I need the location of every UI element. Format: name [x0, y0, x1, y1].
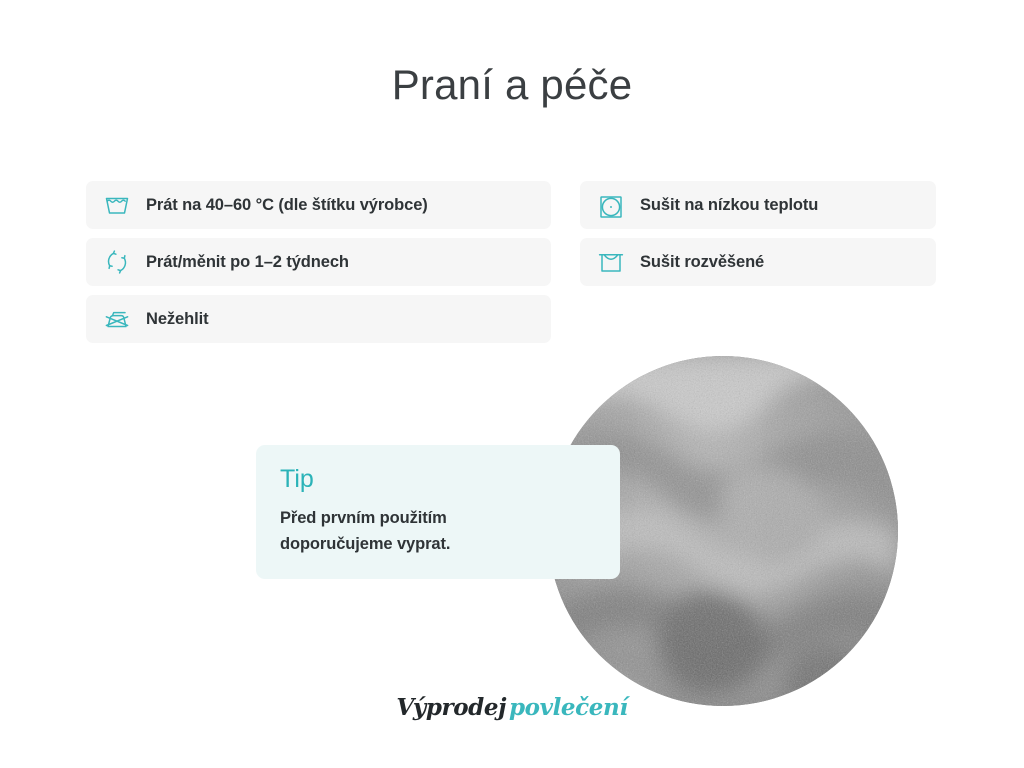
care-row-label: Prát/měnit po 1–2 týdnech	[146, 253, 349, 272]
tumble-dry-low-icon	[596, 190, 626, 220]
care-list-left: Prát na 40–60 °C (dle štítku výrobce) Pr…	[86, 181, 551, 343]
do-not-iron-icon	[102, 304, 132, 334]
page-title: Praní a péče	[0, 60, 1024, 110]
care-row-label: Nežehlit	[146, 310, 208, 329]
tip-text-line-1: Před prvním použitím	[280, 506, 596, 532]
tip-card: Tip Před prvním použitím doporučujeme vy…	[256, 445, 620, 579]
tip-text: Před prvním použitím doporučujeme vyprat…	[280, 506, 596, 557]
care-row-do-not-iron: Nežehlit	[86, 295, 551, 343]
brand-logo: Výprodejpovlečení	[0, 694, 1024, 721]
care-row-label: Sušit na nízkou teplotu	[640, 196, 818, 215]
care-row-tumble-dry-low: Sušit na nízkou teplotu	[580, 181, 936, 229]
care-row-wash-temperature: Prát na 40–60 °C (dle štítku výrobce)	[86, 181, 551, 229]
care-row-label: Prát na 40–60 °C (dle štítku výrobce)	[146, 196, 428, 215]
care-instructions-page: Praní a péče Prát na 40–60 °C (dle štítk…	[0, 0, 1024, 768]
wash-tub-icon	[102, 190, 132, 220]
tip-text-line-2: doporučujeme vyprat.	[280, 532, 596, 558]
brand-logo-part-2: povlečení	[509, 694, 628, 721]
care-row-line-dry: Sušit rozvěšené	[580, 238, 936, 286]
care-list-right: Sušit na nízkou teplotu Sušit rozvěšené	[580, 181, 936, 286]
refresh-cycle-icon	[102, 247, 132, 277]
brand-logo-part-1: Výprodej	[396, 694, 506, 721]
care-row-label: Sušit rozvěšené	[640, 253, 764, 272]
tip-heading: Tip	[280, 467, 596, 492]
line-dry-icon	[596, 247, 626, 277]
care-row-wash-frequency: Prát/měnit po 1–2 týdnech	[86, 238, 551, 286]
